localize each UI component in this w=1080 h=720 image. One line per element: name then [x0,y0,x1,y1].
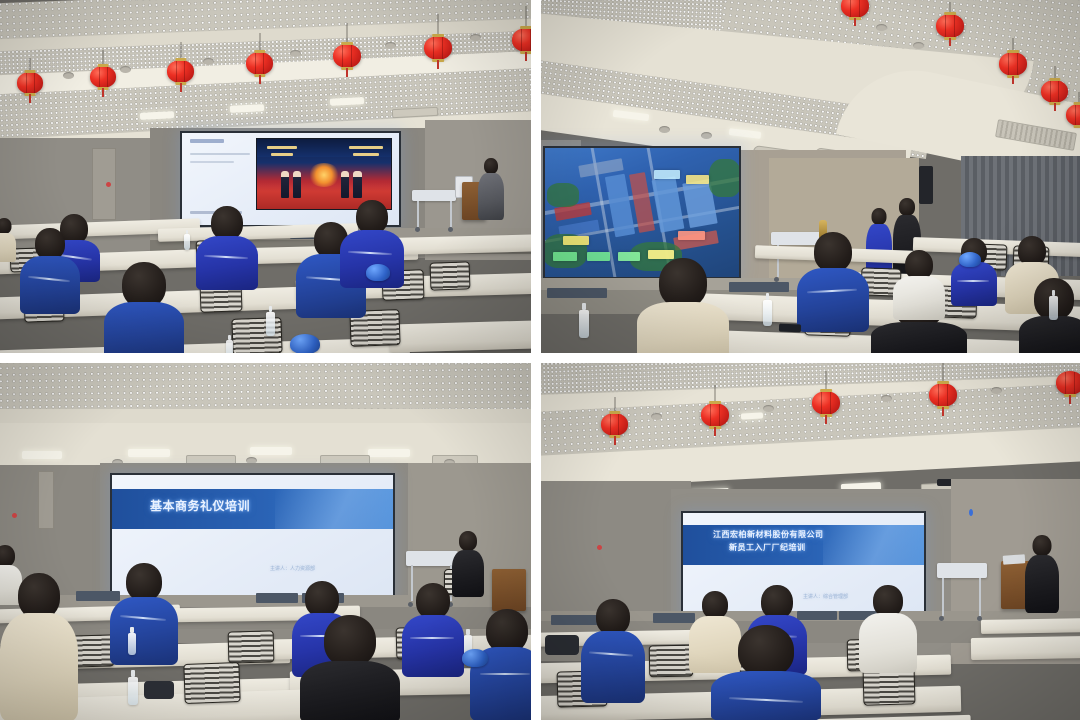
red-lantern [1041,80,1068,103]
video-caption-left2 [271,153,293,156]
wall-fire-alarm [597,545,602,550]
red-lantern [1056,371,1080,395]
ceiling-downlight [203,58,214,65]
attendee-blue-uniform [951,238,997,306]
laptop-on-lectern [1003,554,1026,565]
attendee-foreground [711,625,821,720]
ceiling-downlight [651,413,662,420]
video-caption-right [349,146,383,149]
attendee-blue-uniform [20,228,80,314]
stage-skirt-panel [547,288,607,298]
collage-panel-bottom-left: 基本商务礼仪培训 主讲人：人力资源部 [0,363,531,720]
conference-table [971,636,1080,660]
scene-bottom-left: 基本商务礼仪培训 主讲人：人力资源部 [0,363,531,720]
video-caption-right2 [353,153,379,156]
attendee-foreground [300,615,400,720]
room-door [92,148,116,220]
av-equipment-cart [412,190,456,232]
attendee-blue-uniform [581,599,645,703]
wall-fire-alarm [106,182,111,187]
red-lantern [17,72,43,94]
ceiling-light-fixture [368,449,410,457]
slide-header-text [190,139,224,143]
attendee-foreground [104,262,184,353]
wall-fire-alarm [12,513,17,518]
room-door [38,471,54,529]
ceiling-downlight [701,132,712,139]
chair [430,261,471,290]
attendee [893,250,945,320]
red-lantern [701,403,729,427]
bag-on-table [144,681,174,699]
slide-body-line [190,153,250,155]
attendee-blue-uniform [797,232,869,332]
collage-panel-top-left [0,0,531,353]
water-bottle [128,677,138,705]
ceiling-light-fixture [741,412,763,419]
ceiling-downlight [63,72,74,79]
blue-safety-helmet [462,649,488,667]
red-lantern [1066,104,1080,126]
chair [228,630,275,663]
attendee-blue-uniform [196,206,258,290]
ceiling-downlight [120,66,131,73]
attendee [0,218,16,262]
water-bottle [1049,296,1058,320]
blue-safety-helmet [366,264,390,281]
presenter [1025,535,1059,613]
slide-body-line [190,161,234,163]
attendee-blue-uniform [402,583,464,677]
ceiling-light-fixture [128,449,170,457]
attendee-foreground [637,258,729,353]
ceiling-light-fixture [250,447,292,455]
ceiling-downlight [913,42,924,49]
ceiling-downlight [763,405,774,412]
red-lantern [812,391,840,415]
red-lantern [167,60,194,83]
red-lantern [90,66,116,88]
chair [183,662,240,704]
ceiling-downlight [470,34,481,41]
red-lantern [999,52,1027,76]
red-lantern [424,36,452,60]
conference-table [396,234,531,255]
attendee-blue-uniform [110,563,178,665]
ceiling-light-fixture [22,451,62,459]
water-bottle [763,300,772,326]
ceremony-figure [353,171,361,198]
scene-bottom-right: 江西宏柏新材料股份有限公司 新员工入厂厂纪培训 主讲人：综合管理部 [541,363,1080,720]
ceiling-downlight [659,126,670,133]
scene-top-right [541,0,1080,353]
conference-table [390,319,531,352]
bag-on-table [545,635,579,655]
ceiling-downlight [876,24,887,31]
water-bottle [226,340,233,353]
water-bottle [184,234,190,250]
blue-safety-helmet [959,252,981,267]
collage-panel-top-right [541,0,1080,353]
ceiling-downlight [991,387,1002,394]
lectern-podium [492,569,526,611]
scene-top-left [0,0,531,353]
water-bottle [128,633,136,655]
red-lantern [333,44,361,68]
blue-safety-helmet [290,334,320,353]
ceiling-downlight [385,42,396,49]
attendee-foreground-left [0,573,78,720]
ceiling-downlight [881,395,892,402]
water-bottle [266,312,275,336]
stage-skirt-panel [729,282,789,292]
ceiling-downlight [290,50,301,57]
wall-speaker [919,166,933,204]
conference-table [0,337,410,353]
attendee [859,585,917,673]
collage-panel-bottom-right: 江西宏柏新材料股份有限公司 新员工入厂厂纪培训 主讲人：综合管理部 [541,363,1080,720]
red-lantern [246,52,273,75]
ceremony-figure [341,171,349,198]
water-bottle [579,310,589,338]
presenter [478,158,504,220]
red-lantern [601,413,628,436]
video-caption-left [267,146,297,149]
photo-collage: 基本商务礼仪培训 主讲人：人力资源部 [0,0,1080,720]
chair [649,645,694,678]
ceremony-figure [293,171,301,198]
wall-indicator-light [969,509,973,516]
red-lantern [841,0,869,18]
red-lantern [936,14,964,38]
av-equipment-cart [937,563,987,621]
conference-table [981,618,1080,634]
red-lantern [929,383,957,407]
smartphone-on-table [779,324,801,333]
ceremony-figure [281,171,289,198]
red-lantern [512,28,531,52]
